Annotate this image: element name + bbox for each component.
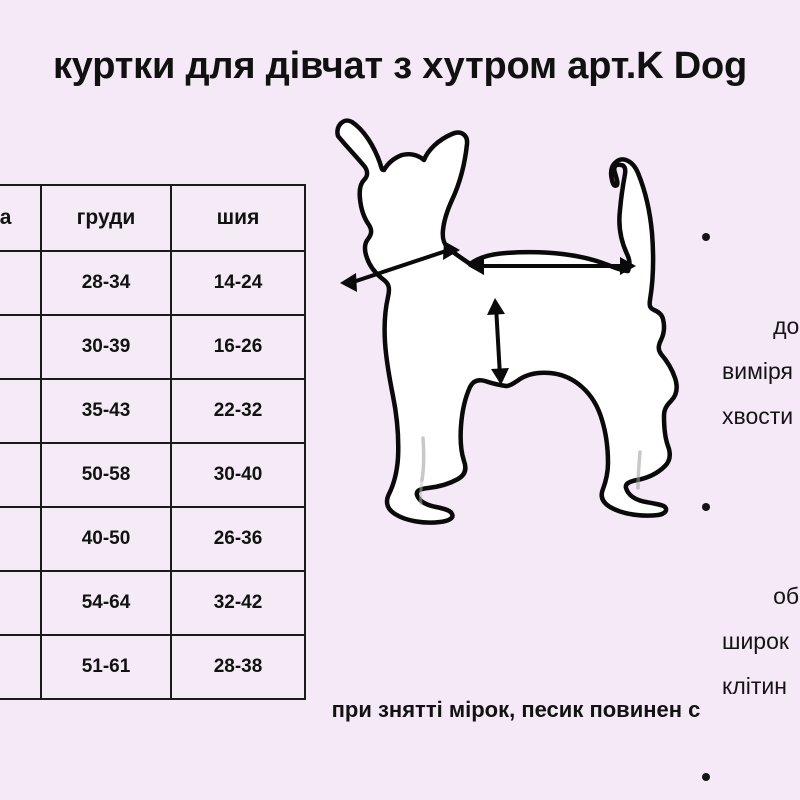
cell-neck: 22-32 <box>171 379 305 443</box>
bottom-note: при знятті мірок, песик повинен с лапках… <box>332 612 701 800</box>
rear-leg-line <box>638 452 640 488</box>
list-item: об’єм широк клітин <box>722 484 800 754</box>
cell-length <box>0 315 41 379</box>
list-item: об’єм наши <box>722 754 800 800</box>
cell-length <box>0 635 41 699</box>
table-row: 54-64 32-42 <box>0 571 305 635</box>
column-header-neck: шия <box>171 185 305 251</box>
bullet-icon <box>702 233 710 241</box>
size-table: довжина груди шия 28-34 14-24 30-39 16-2… <box>0 184 306 700</box>
list-item-label: довжина виміря хвости <box>722 313 800 429</box>
dog-measurement-diagram <box>318 108 704 526</box>
cell-chest: 30-39 <box>41 315 171 379</box>
page-canvas: куртки для дівчат з хутром арт.K Dog дов… <box>0 0 800 800</box>
cell-chest: 35-43 <box>41 379 171 443</box>
measurement-notes-list: довжина виміря хвости об’єм широк клітин… <box>700 214 800 800</box>
cell-neck: 16-26 <box>171 315 305 379</box>
front-paw-line <box>421 480 422 504</box>
cell-chest: 40-50 <box>41 507 171 571</box>
bullet-icon <box>702 773 710 781</box>
column-header-chest: груди <box>41 185 171 251</box>
cell-chest: 51-61 <box>41 635 171 699</box>
bullet-icon <box>702 503 710 511</box>
cell-length <box>0 571 41 635</box>
page-title: куртки для дівчат з хутром арт.K Dog <box>53 47 747 85</box>
dog-silhouette-icon <box>337 121 676 523</box>
cell-length <box>0 251 41 315</box>
table-row: 51-61 28-38 <box>0 635 305 699</box>
cell-chest: 54-64 <box>41 571 171 635</box>
bottom-note-line: при знятті мірок, песик повинен с <box>332 690 701 729</box>
cell-neck: 30-40 <box>171 443 305 507</box>
cell-chest: 50-58 <box>41 443 171 507</box>
table-header-row: довжина груди шия <box>0 185 305 251</box>
cell-length <box>0 379 41 443</box>
cell-neck: 28-38 <box>171 635 305 699</box>
table-row: 35-43 22-32 <box>0 379 305 443</box>
column-header-length: довжина <box>0 185 41 251</box>
table-row: 50-58 30-40 <box>0 443 305 507</box>
size-table-container: довжина груди шия 28-34 14-24 30-39 16-2… <box>0 184 304 700</box>
table-row: 30-39 16-26 <box>0 315 305 379</box>
cell-neck: 26-36 <box>171 507 305 571</box>
list-item-label: об’єм широк клітин <box>722 583 800 699</box>
cell-neck: 32-42 <box>171 571 305 635</box>
cell-chest: 28-34 <box>41 251 171 315</box>
table-row: 40-50 26-36 <box>0 507 305 571</box>
cell-length <box>0 507 41 571</box>
cell-length <box>0 443 41 507</box>
list-item: довжина виміря хвости <box>722 214 800 484</box>
table-row: 28-34 14-24 <box>0 251 305 315</box>
front-leg-line <box>422 438 424 480</box>
cell-neck: 14-24 <box>171 251 305 315</box>
